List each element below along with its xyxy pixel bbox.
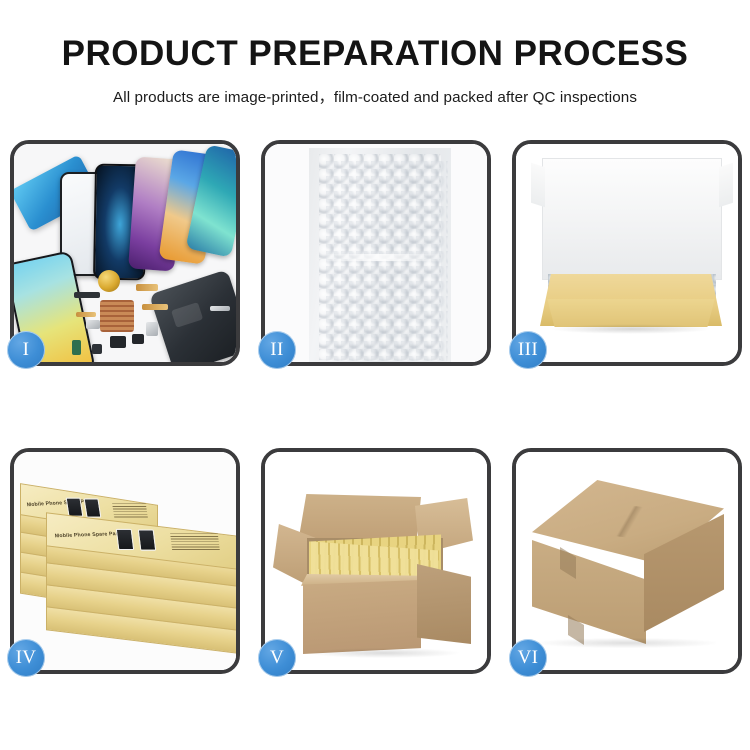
flex-cable-part-a xyxy=(136,284,158,291)
camera-module-part xyxy=(110,336,126,348)
step-panel-4[interactable]: Mobile Phone Spare Parts Mobile Phone Sp… xyxy=(10,448,240,674)
retail-box-label-front: Mobile Phone Spare Parts xyxy=(55,531,124,539)
antenna-flex-part xyxy=(76,312,96,317)
page-subtitle: All products are image-printed，film-coat… xyxy=(0,74,750,107)
inner-box-shadow xyxy=(550,324,712,334)
step-panel-6[interactable]: VI xyxy=(512,448,742,674)
page-title: PRODUCT PREPARATION PROCESS xyxy=(0,0,750,74)
step-panel-2[interactable]: II xyxy=(261,140,491,366)
step-panel-3[interactable]: III xyxy=(512,140,742,366)
flex-cable-part-b xyxy=(142,304,168,310)
battery-connector-part xyxy=(72,340,81,355)
vibration-motor-part xyxy=(98,270,120,292)
speaker-part xyxy=(132,334,144,344)
step-image-4: Mobile Phone Spare Parts Mobile Phone Sp… xyxy=(14,452,236,670)
bubble-wrap-bubbles-overlay xyxy=(326,161,448,361)
retail-box-spec-lines-front xyxy=(170,533,220,550)
process-steps-grid: I II III xyxy=(10,140,742,674)
header: PRODUCT PREPARATION PROCESS All products… xyxy=(0,0,750,107)
step-panel-1[interactable]: I xyxy=(10,140,240,366)
step-panel-5[interactable]: V xyxy=(261,448,491,674)
retail-box-screen-thumb-3 xyxy=(116,529,134,550)
bubble-wrap-fold-highlight xyxy=(313,254,447,261)
retail-box-screen-thumb-2 xyxy=(84,498,102,517)
shield-can-part xyxy=(146,322,158,336)
retail-box-screen-thumb-1 xyxy=(66,498,84,517)
step-badge-5: V xyxy=(258,639,296,677)
step-image-5 xyxy=(265,452,487,670)
metal-bracket-part xyxy=(86,320,100,329)
retail-box-screen-thumb-4 xyxy=(138,530,156,551)
step-badge-3: III xyxy=(509,331,547,369)
carton-front-panel xyxy=(303,580,421,654)
copper-shield-part xyxy=(100,300,134,332)
step-badge-4: IV xyxy=(7,639,45,677)
step-badge-6: VI xyxy=(509,639,547,677)
step-image-1 xyxy=(14,144,236,362)
sealed-carton-shadow xyxy=(538,638,716,648)
screwdriver-tool xyxy=(210,306,230,311)
step-image-3 xyxy=(516,144,738,362)
step-badge-1: I xyxy=(7,331,45,369)
inner-box-lid xyxy=(542,158,722,280)
step-image-2 xyxy=(265,144,487,362)
step-badge-2: II xyxy=(258,331,296,369)
inner-box-front-panel xyxy=(540,299,722,327)
sim-tray-part xyxy=(74,292,100,298)
carton-shadow xyxy=(309,648,459,658)
step-image-6 xyxy=(516,452,738,670)
retail-box-stack: Mobile Phone Spare Parts Mobile Phone Sp… xyxy=(18,466,236,666)
retail-box-spec-lines-back xyxy=(112,503,148,517)
button-part xyxy=(92,344,102,354)
carton-side-panel xyxy=(417,564,471,644)
